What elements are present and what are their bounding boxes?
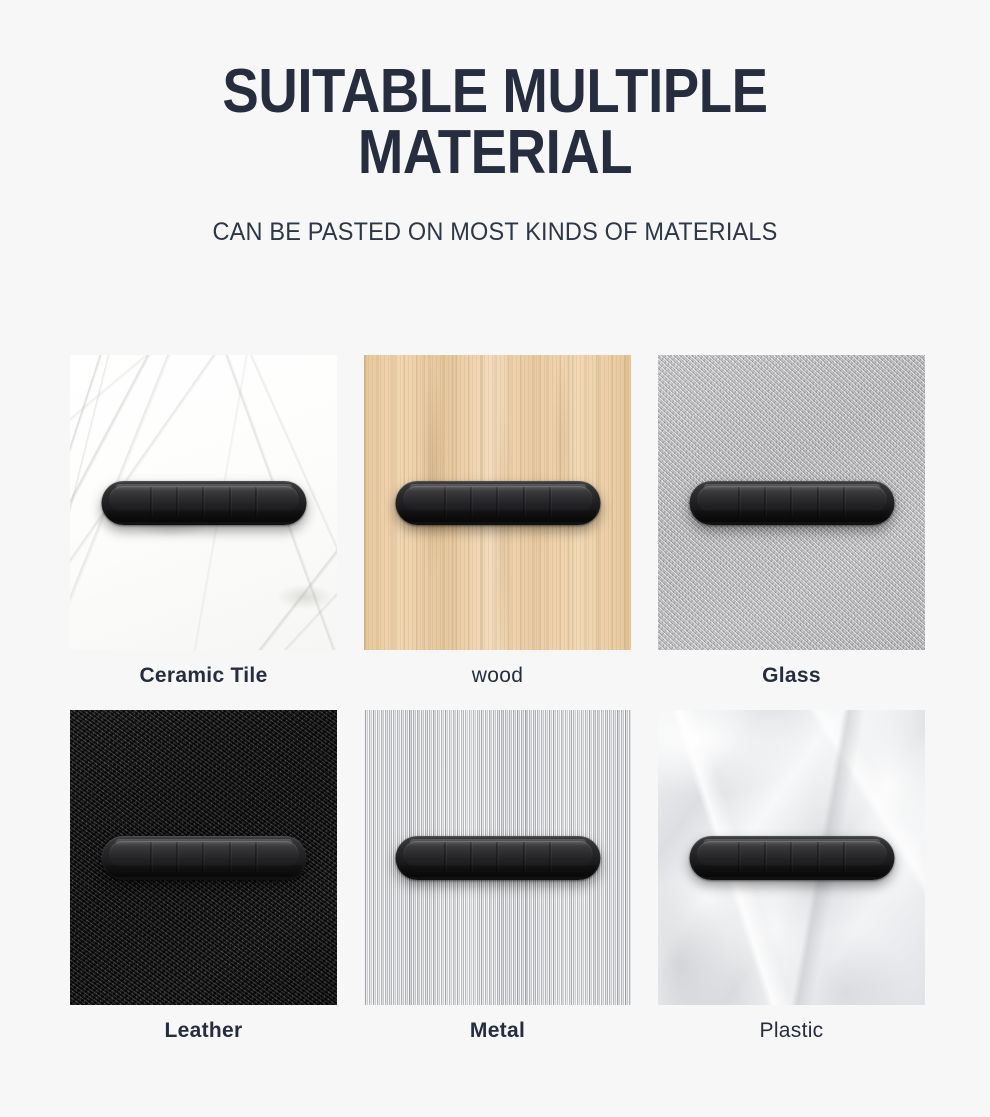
clip-sheen [409, 484, 586, 491]
clip-base [693, 865, 890, 877]
clip-sheen [115, 484, 292, 491]
clip-base [693, 510, 890, 522]
clip-base [105, 510, 302, 522]
clip-base [399, 865, 596, 877]
clip-base [399, 510, 596, 522]
cable-clip-icon [395, 481, 600, 525]
clip-sheen [703, 839, 880, 846]
material-swatch-metal [364, 710, 631, 1005]
material-label-plastic: Plastic [658, 1019, 925, 1043]
material-showcase-page: SUITABLE MULTIPLE MATERIAL CAN BE PASTED… [0, 0, 990, 1117]
page-title-line-1: SUITABLE MULTIPLE [222, 62, 768, 123]
clip-sheen [409, 839, 586, 846]
material-card-wood: wood [364, 355, 631, 688]
material-card-ceramic-tile: Ceramic Tile [70, 355, 337, 688]
material-swatch-glass [658, 355, 925, 650]
page-title: SUITABLE MULTIPLE MATERIAL [222, 62, 768, 184]
material-label-leather: Leather [70, 1019, 337, 1043]
material-card-metal: Metal [364, 710, 631, 1043]
header: SUITABLE MULTIPLE MATERIAL CAN BE PASTED… [0, 0, 990, 247]
page-subtitle: CAN BE PASTED ON MOST KINDS OF MATERIALS [30, 218, 961, 247]
material-swatch-wood [364, 355, 631, 650]
material-grid: Ceramic Tile [70, 355, 930, 1043]
material-label-wood: wood [364, 664, 631, 688]
clip-base [105, 865, 302, 877]
cable-clip-icon [101, 836, 306, 880]
material-label-metal: Metal [364, 1019, 631, 1043]
material-swatch-leather [70, 710, 337, 1005]
clip-sheen [703, 484, 880, 491]
material-card-glass: Glass [658, 355, 925, 688]
material-card-plastic: Plastic [658, 710, 925, 1043]
cable-clip-icon [101, 481, 306, 525]
cable-clip-icon [689, 481, 894, 525]
cable-clip-icon [395, 836, 600, 880]
clip-sheen [115, 839, 292, 846]
material-label-glass: Glass [658, 664, 925, 688]
material-swatch-ceramic-tile [70, 355, 337, 650]
material-label-ceramic-tile: Ceramic Tile [70, 664, 337, 688]
material-card-leather: Leather [70, 710, 337, 1043]
cable-clip-icon [689, 836, 894, 880]
material-swatch-plastic [658, 710, 925, 1005]
page-title-line-2: MATERIAL [222, 123, 768, 184]
